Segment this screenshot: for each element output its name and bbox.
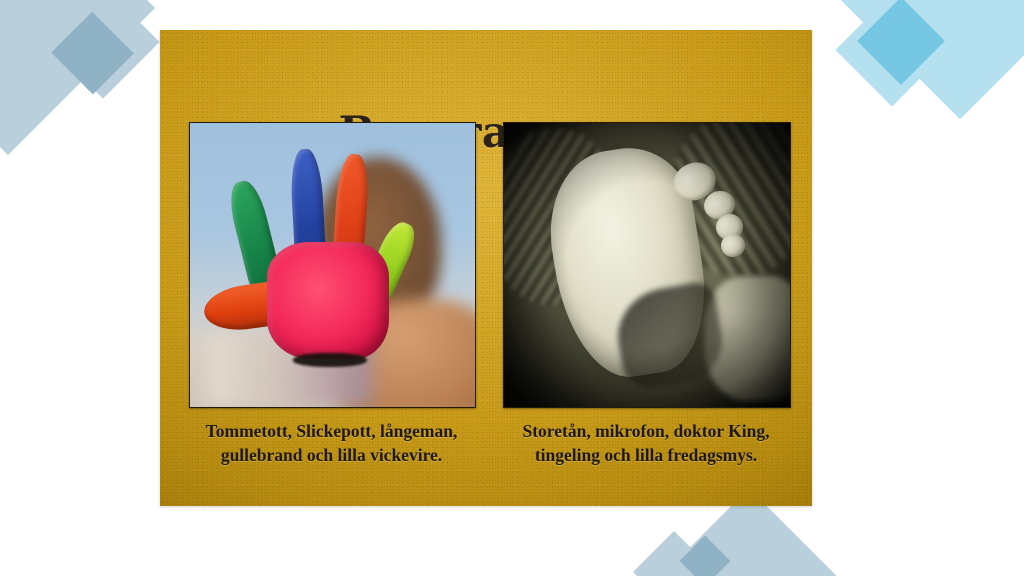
caption-foot-line-1: Storetån, mikrofon, doktor King, xyxy=(503,419,789,443)
diamond-top-right-small xyxy=(835,0,948,107)
diamond-top-left-overlap xyxy=(51,12,134,95)
photo-vignette xyxy=(504,123,790,407)
diamond-top-left-large xyxy=(0,0,155,155)
caption-foot-line-2: tingeling och lilla fredagsmys. xyxy=(503,443,789,467)
diamond-top-right-overlap xyxy=(857,0,945,85)
diamond-bottom-small xyxy=(633,531,715,576)
baby-foot-image xyxy=(503,122,791,408)
painted-hand-image xyxy=(189,122,476,408)
photo-column-hand: Tommetott, Slickepott, långeman, gullebr… xyxy=(189,122,474,467)
caption-hand: Tommetott, Slickepott, långeman, gullebr… xyxy=(189,419,474,467)
slide-canvas: Barnramsor Tommetott, Slickepott, långem… xyxy=(0,0,1024,576)
caption-hand-line-1: Tommetott, Slickepott, långeman, xyxy=(189,419,474,443)
caption-foot: Storetån, mikrofon, doktor King, tingeli… xyxy=(503,419,789,467)
content-card: Barnramsor Tommetott, Slickepott, långem… xyxy=(160,30,812,506)
diamond-bottom-overlap xyxy=(680,536,731,576)
diamond-top-right-large xyxy=(799,0,1024,119)
caption-hand-line-2: gullebrand och lilla vickevire. xyxy=(189,443,474,467)
palm-pink xyxy=(267,242,390,358)
diamond-top-left-small xyxy=(46,0,159,99)
photo-column-foot: Storetån, mikrofon, doktor King, tingeli… xyxy=(503,122,789,467)
wrist-band xyxy=(293,353,367,367)
